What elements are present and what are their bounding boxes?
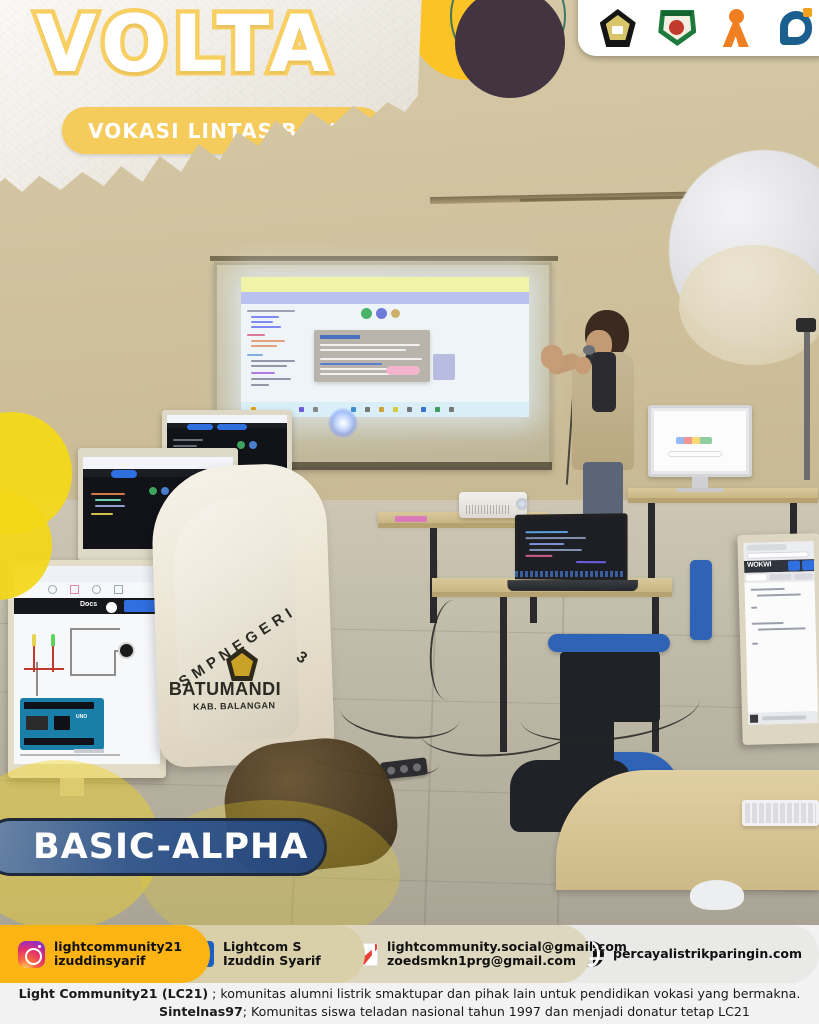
presenter-jeans bbox=[583, 462, 623, 520]
caption-line-1: Light Community21 (LC21) ; komunitas alu… bbox=[0, 985, 819, 1003]
desk-leg bbox=[430, 528, 437, 623]
arduino-board: UNO bbox=[20, 698, 104, 750]
laptop-desk-edge bbox=[432, 592, 672, 597]
footer: percayalistrikparingin.com lightcommunit… bbox=[0, 925, 819, 1024]
badge-label: BASIC-ALPHA bbox=[33, 827, 308, 867]
editor-sidebar bbox=[245, 308, 303, 396]
caption-line-1-rest: ; komunitas alumni listrik smaktupar dan… bbox=[208, 986, 800, 1001]
browser-chrome bbox=[241, 277, 529, 292]
footer-caption: Light Community21 (LC21) ; komunitas alu… bbox=[0, 985, 819, 1021]
wokwi-taskbar bbox=[748, 711, 818, 725]
uniform-line-2: BATUMANDI bbox=[169, 679, 281, 700]
whiteboard-rail-top bbox=[210, 256, 558, 261]
basic-alpha-badge: BASIC-ALPHA bbox=[0, 818, 327, 876]
uniform-line-3: KAB. BALANGAN bbox=[193, 700, 276, 711]
email-line-2: zoedsmkn1prg@gmail.com bbox=[387, 954, 627, 968]
email-line-1: lightcommunity.social@gmail.com bbox=[387, 940, 627, 954]
toolbar-icons bbox=[361, 308, 407, 320]
monitor-front: Docs bbox=[8, 560, 166, 778]
facebook-text: Lightcom S Izuddin Syarif bbox=[223, 940, 321, 968]
led-green bbox=[51, 634, 55, 646]
keyboard[interactable] bbox=[742, 800, 819, 826]
instagram-text: lightcommunity21 izuddinsyarif bbox=[54, 940, 182, 968]
wokwi-save-button[interactable] bbox=[802, 560, 814, 570]
contact-instagram[interactable]: lightcommunity21 izuddinsyarif bbox=[0, 925, 210, 983]
facebook-line-2: Izuddin Syarif bbox=[223, 954, 321, 968]
website-text: percayalistrikparingin.com bbox=[613, 947, 802, 961]
poster: Docs bbox=[0, 0, 819, 1024]
caption-line-2-rest: ; Komunitas siswa teladan nasional tahun… bbox=[243, 1004, 750, 1019]
tinkercad-toolbar bbox=[14, 582, 160, 598]
buzzer-component bbox=[118, 642, 135, 659]
instagram-line-1: lightcommunity21 bbox=[54, 940, 182, 954]
browser-viewport bbox=[241, 304, 529, 402]
presenter-hand-open bbox=[541, 345, 563, 369]
laptop-keyboard bbox=[507, 580, 637, 591]
contact-email[interactable]: lightcommunity.social@gmail.com zoedsmkn… bbox=[330, 925, 590, 983]
simulate-button[interactable] bbox=[124, 600, 158, 612]
lamp-glow bbox=[679, 245, 819, 365]
docs-label[interactable]: Docs bbox=[80, 601, 97, 608]
caption-line-1-bold: Light Community21 (LC21) bbox=[19, 986, 209, 1001]
tinkercad-screen: Docs bbox=[14, 566, 160, 764]
contact-bar: percayalistrikparingin.com lightcommunit… bbox=[0, 925, 819, 983]
presenter-hand-mic bbox=[575, 357, 591, 374]
chair-back bbox=[548, 634, 670, 652]
monitor-right: WOKWI bbox=[737, 533, 819, 745]
mouse[interactable] bbox=[690, 880, 744, 910]
projector-lens bbox=[516, 498, 528, 510]
dialog-title bbox=[320, 335, 360, 339]
caption-line-2-bold: Sintelnas97 bbox=[159, 1004, 243, 1019]
monitor-base bbox=[676, 488, 724, 492]
projected-screen bbox=[241, 277, 529, 417]
chair-side bbox=[690, 560, 712, 640]
facebook-line-1: Lightcom S bbox=[223, 940, 321, 954]
browser-toolbar bbox=[241, 292, 529, 304]
projector-lens-glow bbox=[328, 408, 358, 438]
uniform-number: 3 bbox=[292, 648, 310, 668]
caption-line-2: Sintelnas97; Komunitas siswa teladan nas… bbox=[0, 1003, 819, 1021]
blue-p-logo bbox=[776, 8, 816, 48]
microphone-head bbox=[583, 345, 595, 355]
search-box bbox=[668, 451, 722, 457]
wokwi-logo: WOKWI bbox=[747, 561, 771, 569]
tut-wuri-handayani-logo bbox=[598, 8, 638, 48]
dialog-primary-button[interactable] bbox=[386, 366, 420, 375]
back-monitor bbox=[648, 405, 752, 477]
back-monitor-screen bbox=[654, 411, 746, 471]
wokwi-browser-chrome bbox=[743, 541, 813, 561]
orange-person-logo bbox=[717, 8, 757, 48]
instagram-icon bbox=[18, 941, 45, 968]
page-title: VOLTA bbox=[36, 0, 386, 90]
projector-vents bbox=[466, 505, 510, 514]
smkn1-paringin-logo bbox=[657, 8, 697, 48]
sun-icon bbox=[106, 602, 117, 613]
wokwi-tabs[interactable] bbox=[744, 571, 814, 583]
instagram-line-2: izuddinsyarif bbox=[54, 954, 182, 968]
email-text: lightcommunity.social@gmail.com zoedsmkn… bbox=[387, 940, 627, 968]
presenter-shirt bbox=[592, 352, 616, 412]
laptop-taskbar bbox=[515, 571, 625, 577]
pole bbox=[804, 330, 810, 480]
camera bbox=[796, 318, 816, 332]
right-desk bbox=[556, 770, 819, 890]
partner-logos-card bbox=[578, 0, 819, 56]
led-yellow bbox=[32, 634, 36, 646]
arduino-uno-label: UNO bbox=[76, 714, 87, 720]
led-strip bbox=[395, 516, 427, 522]
website-line-1: percayalistrikparingin.com bbox=[613, 947, 802, 961]
wokwi-screen: WOKWI bbox=[743, 541, 818, 725]
search-logo bbox=[676, 437, 712, 444]
wokwi-run-button[interactable] bbox=[788, 560, 800, 570]
preview-panel bbox=[433, 354, 455, 380]
